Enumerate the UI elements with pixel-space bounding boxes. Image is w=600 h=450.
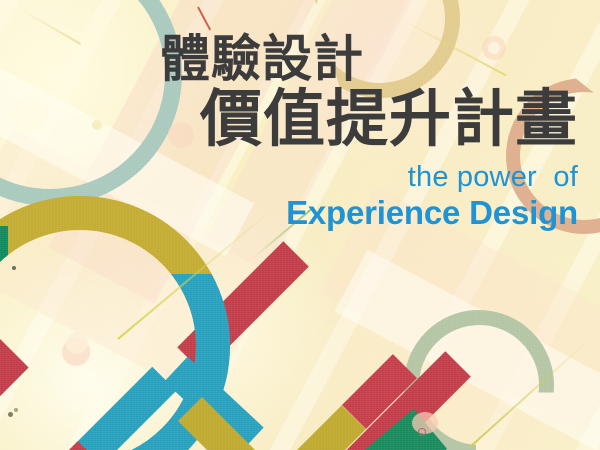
decor-speck-1 bbox=[12, 266, 16, 270]
subheadline-english-line-2: Experience Design bbox=[78, 194, 578, 232]
decor-dot-ring-small bbox=[418, 428, 426, 436]
decor-dot-1 bbox=[12, 96, 48, 132]
decor-speck-2 bbox=[8, 412, 13, 417]
poster-canvas: 體驗設計 價值提升計畫 the power of Experience Desi… bbox=[0, 0, 600, 450]
decor-speck-3 bbox=[14, 408, 18, 412]
headline-chinese-line-1: 體驗設計 bbox=[78, 32, 578, 86]
decor-dot-8 bbox=[66, 332, 88, 354]
headline-chinese-line-2: 價值提升計畫 bbox=[78, 84, 578, 154]
subheadline-english-line-1: the power of bbox=[78, 160, 578, 194]
headline-block: 體驗設計 價值提升計畫 the power of Experience Desi… bbox=[78, 32, 578, 232]
